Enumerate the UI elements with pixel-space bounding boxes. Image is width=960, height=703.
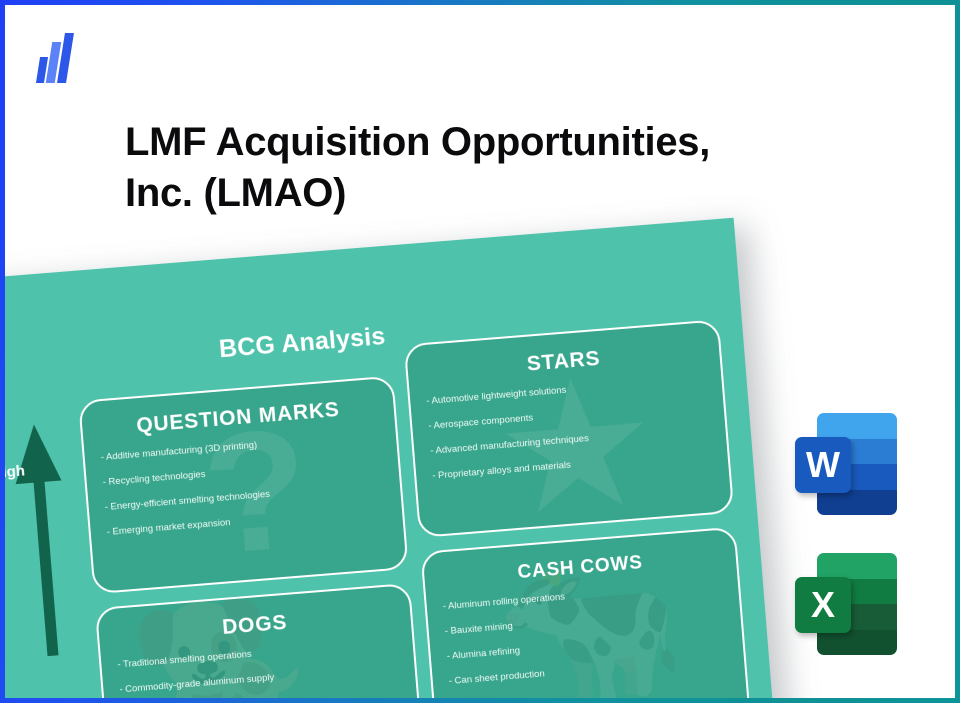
quadrant-stars[interactable]: ★ STARS - Automotive lightweight solutio… (404, 319, 735, 538)
bcg-matrix-card: BCG Analysis High Market growth ? QUESTI… (5, 218, 778, 698)
quadrant-item-list: - Additive manufacturing (3D printing) -… (100, 430, 402, 538)
page-title-line-1: LMF Acquisition Opportunities, (125, 117, 765, 168)
band (817, 553, 897, 579)
band (817, 413, 897, 439)
quadrant-item-list: - Traditional smelting operations - Comm… (117, 637, 417, 698)
word-letter-tile: W (795, 437, 851, 493)
quadrant-item-list: - Automotive lightweight solutions - Aer… (426, 373, 728, 481)
excel-letter-tile: X (795, 577, 851, 633)
page-title: LMF Acquisition Opportunities, Inc. (LMA… (125, 117, 765, 219)
quadrant-cash-cows[interactable]: 🐄 CASH COWS - Aluminum rolling operation… (420, 527, 751, 698)
page-title-line-2: Inc. (LMAO) (125, 168, 765, 219)
quadrant-question-marks[interactable]: ? QUESTION MARKS - Additive manufacturin… (78, 376, 409, 595)
excel-spreadsheet-icon[interactable]: X (795, 553, 897, 655)
band (817, 490, 897, 515)
axis-label-high: High (5, 462, 26, 482)
slide-page: LMF Acquisition Opportunities, Inc. (LMA… (0, 0, 960, 703)
slide-content-area: LMF Acquisition Opportunities, Inc. (LMA… (5, 5, 955, 698)
company-logo (36, 31, 80, 83)
band (817, 630, 897, 655)
quadrant-item-list: - Aluminum rolling operations - Bauxite … (442, 579, 744, 687)
logo-bar-3 (57, 33, 74, 83)
word-document-icon[interactable]: W (795, 413, 897, 515)
